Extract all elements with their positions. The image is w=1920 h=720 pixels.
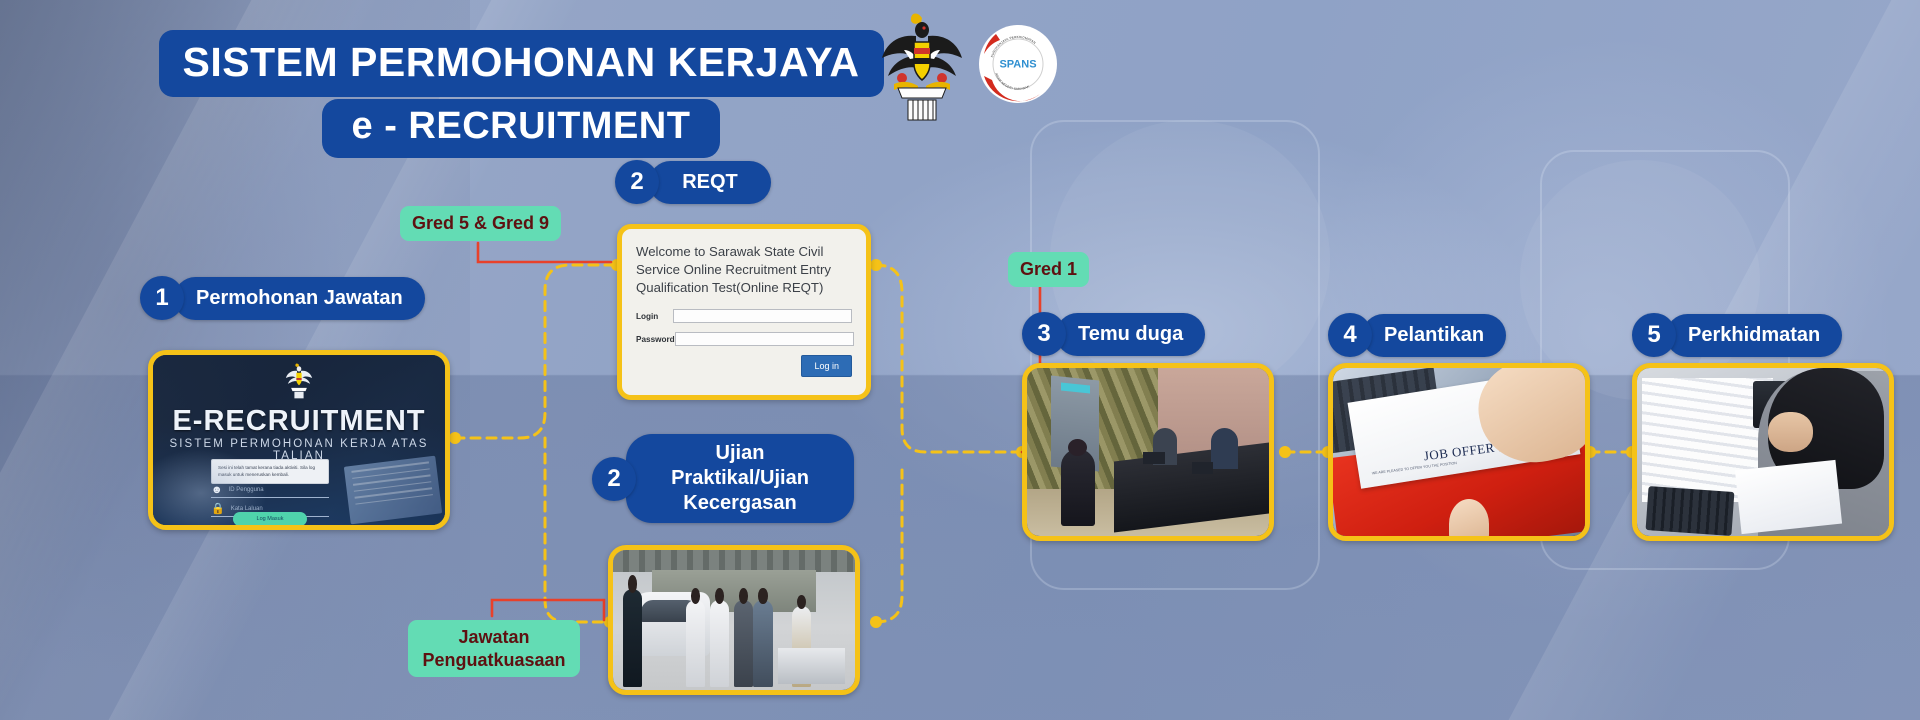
page-title: SISTEM PERMOHONAN KERJAYA e - RECRUITMEN… <box>164 30 878 158</box>
photo-interview <box>1027 368 1269 536</box>
card-photo-interview[interactable] <box>1022 363 1274 541</box>
step-badge-temu-duga[interactable]: 3 Temu duga <box>1022 312 1205 356</box>
photo-practical-test <box>613 550 855 690</box>
step-number: 2 <box>615 160 659 204</box>
erecruitment-title: E-RECRUITMENT <box>153 405 445 438</box>
step-number: 1 <box>140 276 184 320</box>
step-label: Ujian Praktikal/Ujian Kecergasan <box>626 434 854 523</box>
card-photo-practical-test[interactable] <box>608 545 860 695</box>
step-number: 5 <box>1632 313 1676 357</box>
note-text: Gred 5 & Gred 9 <box>412 213 549 233</box>
scene-laptop <box>1192 462 1214 474</box>
step-label: Permohonan Jawatan <box>174 277 425 320</box>
step-badge-permohonan-jawatan[interactable]: 1 Permohonan Jawatan <box>140 276 425 320</box>
card-photo-offer-letter[interactable]: WE ARE PLEASED TO OFFER YOU THE POSITION… <box>1328 363 1590 541</box>
scene-panelist <box>1211 428 1238 468</box>
erecruitment-username-field[interactable]: ☻ ID Pengguna <box>211 483 329 498</box>
spans-logo-icon: SURUHANJAYA PERKHIDMATAN AWAM NEGERI SAR… <box>978 24 1058 104</box>
erecruitment-bg-document <box>344 456 442 525</box>
scene-person <box>710 600 729 687</box>
step-number: 3 <box>1022 312 1066 356</box>
reqt-password-input[interactable] <box>675 332 854 346</box>
reqt-login-panel[interactable]: Welcome to Sarawak State Civil Service O… <box>617 224 871 400</box>
card-photo-service-desk[interactable] <box>1632 363 1894 541</box>
step-label: Temu duga <box>1056 313 1205 356</box>
reqt-password-row: Password <box>622 331 866 346</box>
step-badge-ujian-praktikal[interactable]: 2 Ujian Praktikal/Ujian Kecergasan <box>592 434 854 523</box>
sarawak-state-crest-icon <box>880 6 964 122</box>
scene-person <box>686 600 705 687</box>
lock-icon: 🔒 <box>211 504 225 515</box>
user-circle-icon: ☻ <box>211 485 223 496</box>
scene-form-sheet <box>1735 460 1842 534</box>
scene-person <box>734 600 753 687</box>
title-line-1: SISTEM PERMOHONAN KERJAYA <box>159 30 884 97</box>
reqt-password-label: Password <box>636 335 675 344</box>
erecruitment-screen: E-RECRUITMENT SISTEM PERMOHONAN KERJA AT… <box>153 355 445 525</box>
step-label: REQT <box>649 161 771 204</box>
scene-candidate <box>1061 449 1095 526</box>
note-text: Gred 1 <box>1020 259 1077 279</box>
card-erecruitment-screenshot[interactable]: E-RECRUITMENT SISTEM PERMOHONAN KERJA AT… <box>148 350 450 530</box>
photo-service-desk <box>1637 368 1889 536</box>
step-number: 2 <box>592 457 636 501</box>
scene-person <box>623 589 642 687</box>
reqt-login-input[interactable] <box>673 309 852 323</box>
step-number: 4 <box>1328 313 1372 357</box>
reqt-login-button[interactable]: Log in <box>801 355 852 377</box>
scene-table <box>778 648 846 684</box>
logo-group: SURUHANJAYA PERKHIDMATAN AWAM NEGERI SAR… <box>880 6 1058 122</box>
scene-laptop <box>1143 452 1165 464</box>
sarawak-crest-small-icon <box>282 361 316 399</box>
offer-letter-subtext: WE ARE PLEASED TO OFFER YOU THE POSITION <box>1372 461 1457 475</box>
reqt-login-row: Login <box>622 308 866 323</box>
reqt-button-row: Log in <box>622 346 866 377</box>
photo-offer-letter: WE ARE PLEASED TO OFFER YOU THE POSITION… <box>1333 368 1585 536</box>
step-label: Perkhidmatan <box>1666 314 1842 357</box>
svg-text:SPANS: SPANS <box>999 59 1036 71</box>
scene-face <box>1768 412 1813 452</box>
step-badge-perkhidmatan[interactable]: 5 Perkhidmatan <box>1632 313 1842 357</box>
note-text-line2: Penguatkuasaan <box>422 650 565 670</box>
reqt-login-label: Login <box>636 312 673 321</box>
note-gred-1: Gred 1 <box>1008 252 1089 287</box>
erecruitment-login-button[interactable]: Log Masuk <box>233 512 307 526</box>
step-label: Pelantikan <box>1362 314 1506 357</box>
scene-keyboard <box>1646 486 1735 536</box>
step-badge-pelantikan[interactable]: 4 Pelantikan <box>1328 313 1506 357</box>
reqt-welcome-text: Welcome to Sarawak State Civil Service O… <box>622 229 866 304</box>
title-line-2: e - RECRUITMENT <box>322 99 721 158</box>
erecruitment-username-placeholder: ID Pengguna <box>229 487 264 493</box>
note-gred-5-9: Gred 5 & Gred 9 <box>400 206 561 241</box>
note-jawatan-penguatkuasaan: Jawatan Penguatkuasaan <box>408 620 580 677</box>
note-text-line1: Jawatan <box>458 627 529 647</box>
scene-person <box>753 600 772 687</box>
step-badge-reqt[interactable]: 2 REQT <box>615 160 771 204</box>
